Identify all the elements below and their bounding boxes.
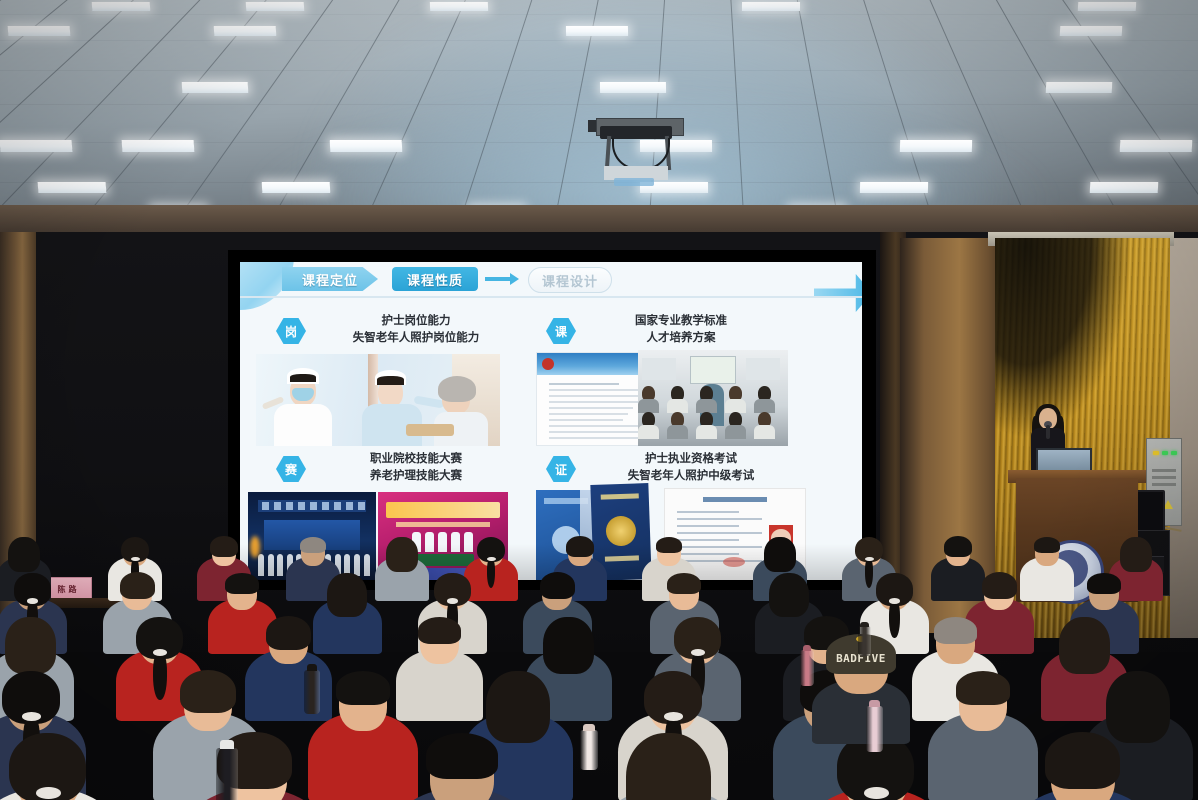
person-hair-long (543, 617, 594, 674)
panel-led-icon (1162, 451, 1168, 455)
ceiling-seam (0, 70, 1198, 71)
ceiling-light-panel (38, 182, 107, 193)
slide-flow-arrow-head-icon (510, 273, 519, 285)
nurse1-uniform (274, 404, 332, 446)
national-emblem-icon (542, 358, 554, 370)
slide-text-gang: 护士岗位能力 失智老年人照护岗位能力 (316, 312, 516, 345)
person-hair-long (1120, 537, 1152, 572)
projector-lens (614, 178, 654, 186)
gov-site-text-line (549, 395, 643, 397)
stage-banner-char (346, 502, 353, 510)
person-hair-thin (336, 671, 391, 705)
ceiling-light-panel (1090, 182, 1159, 193)
slide-tab-next[interactable]: 课程设计 (528, 267, 612, 293)
hair-tie (487, 557, 496, 561)
person-hair-short (566, 536, 594, 557)
person-hair-thin (426, 733, 498, 778)
person-hair-short (944, 536, 972, 557)
hair-tie (36, 787, 60, 799)
classroom-attendee-body (725, 399, 746, 413)
bottle-cap (869, 700, 880, 707)
classroom-attendee-body (754, 425, 775, 439)
ceiling-light-panel (8, 26, 71, 36)
hair-tie (27, 598, 39, 603)
hair-tie (131, 557, 140, 561)
person-hair-short (540, 572, 575, 599)
person-hair-short (210, 536, 238, 557)
cup (580, 730, 598, 770)
gov-site-text-line (549, 383, 619, 385)
person-hair-short (180, 670, 237, 713)
slide-text-zheng-line2: 失智老年人照护中级考试 (586, 467, 796, 484)
slide-text-ke-line2: 人才培养方案 (586, 329, 776, 346)
ceiling-light-panel (430, 2, 488, 11)
slide-text-sai-line1: 职业院校技能大赛 (370, 451, 462, 465)
hair-tie (864, 787, 888, 799)
ceiling-light-panel (742, 2, 800, 11)
ceiling-light-panel (566, 26, 628, 36)
audience-member (0, 732, 121, 800)
ceiling-light-panel (860, 182, 928, 193)
ceiling-light-panel (122, 140, 195, 152)
cert-doc-text-line (677, 511, 739, 513)
classroom-attendee-body (638, 399, 659, 413)
audience-member (596, 732, 742, 800)
person-hair-thin (656, 537, 683, 554)
person-hair-thin (418, 617, 461, 644)
person-hair-long (327, 573, 367, 618)
stage-banner-char (322, 502, 329, 510)
classroom-attendee-body (667, 425, 688, 439)
hair-tie (889, 598, 901, 603)
ceiling-light-panel (214, 26, 277, 36)
person-hair-long (5, 617, 56, 674)
ceiling-light-panel (0, 140, 73, 152)
gov-site-text-line (549, 401, 638, 403)
slide-tab-previous[interactable]: 课程定位 (282, 267, 378, 291)
panel-switch[interactable] (1152, 483, 1176, 486)
slide-tab-active[interactable]: 课程性质 (392, 267, 478, 291)
gov-site-text-line (549, 389, 648, 391)
slide-text-ke: 国家专业教学标准 人才培养方案 (586, 312, 776, 345)
person-hair-long (769, 573, 809, 618)
panel-switch[interactable] (1152, 476, 1176, 479)
panel-led-icon (1171, 451, 1177, 455)
slide-flow-arrow-line (485, 277, 511, 281)
person-hair-long (1059, 617, 1110, 674)
slide-text-gang-line2: 失智老年人照护岗位能力 (316, 329, 516, 346)
gov-site-text-line (549, 407, 633, 409)
classroom-attendee-body (696, 399, 717, 413)
classroom-attendee-body (754, 399, 775, 413)
person-hair-thin (300, 537, 327, 554)
ceiling-light-panel (600, 82, 666, 93)
pink-bottle (800, 650, 814, 686)
thermos (304, 670, 320, 714)
slide-badge-gang: 岗 (276, 318, 306, 344)
ceiling-seam (0, 182, 1198, 183)
ceiling-light-panel (1046, 82, 1112, 93)
slide-photo-nurses (256, 354, 500, 446)
ceiling-light-panel (262, 182, 331, 193)
ceiling-light-panel (330, 140, 403, 152)
ceiling-light-panel (900, 140, 972, 152)
ceiling (0, 0, 1198, 232)
stage-banner-char (262, 502, 269, 510)
hair-tie (664, 712, 683, 721)
classroom-panel-l (642, 358, 676, 380)
audience-member (182, 732, 328, 800)
stage-banner-char (286, 502, 293, 510)
slide-badge-zheng: 证 (546, 456, 576, 482)
stage-banner-char (334, 502, 341, 510)
pink-thermos (866, 706, 883, 752)
microphone-handle (1046, 425, 1050, 439)
ceiling-light-panel (1060, 26, 1122, 36)
bed-rail (406, 424, 454, 436)
person-hair-thin (1034, 537, 1061, 554)
stage-banner-char (298, 502, 305, 510)
hair-tie (865, 557, 874, 561)
bottle-cap (860, 622, 868, 627)
person-hair-thin (1087, 573, 1121, 594)
person-hair-thin (934, 617, 977, 644)
slide-text-sai: 职业院校技能大赛 养老护理技能大赛 (316, 450, 516, 483)
audience-member (389, 732, 535, 800)
hair-tie (447, 598, 459, 603)
stage-title-band (386, 502, 500, 518)
bottle-cap (583, 724, 595, 730)
ceiling-seam (0, 104, 1198, 105)
person-hair-short (120, 572, 155, 599)
bottle-cap (220, 740, 234, 749)
person-hair-long (8, 537, 40, 572)
person-hair-short (1045, 732, 1120, 789)
ceiling-light-panel (1120, 140, 1193, 152)
person-hair-thin (225, 573, 259, 594)
stage-banner-char (310, 502, 317, 510)
audience-area: BADFIVE (0, 520, 1198, 800)
sports-bottle (216, 748, 238, 800)
nurse2-hair (377, 376, 404, 385)
classroom-attendee-body (696, 425, 717, 439)
ceiling-light-panel (1078, 2, 1136, 11)
slide-badge-sai: 赛 (276, 456, 306, 482)
slide-decor-arrow-right (814, 274, 862, 312)
stage-banner-char (274, 502, 281, 510)
person-hair-long (626, 733, 711, 800)
cert-header-line (601, 493, 639, 499)
audience-member (1010, 732, 1156, 800)
person-hair-thin (956, 671, 1011, 705)
slide-text-zheng: 护士执业资格考试 失智老年人照护中级考试 (586, 450, 796, 483)
bottle-cap (803, 645, 812, 651)
conference-hall-scene: 课程定位 课程性质 课程设计 岗 护士岗位能力 失智老年人照护岗位能力 课 国家… (0, 0, 1198, 800)
patient-hair (438, 376, 476, 402)
ceiling-seam (0, 40, 1198, 41)
slide-badge-ke: 课 (546, 318, 576, 344)
classroom-attendee-body (725, 425, 746, 439)
slide-text-sai-line2: 养老护理技能大赛 (316, 467, 516, 484)
person-hair-long (386, 537, 418, 572)
person-hair-long (764, 537, 796, 572)
ceiling-light-panel (246, 2, 305, 11)
ceiling-light-panel (92, 2, 151, 11)
classroom-panel-r (746, 358, 780, 380)
hair-tie (22, 712, 41, 721)
classroom-whiteboard (690, 356, 736, 384)
gov-site-text-line (549, 431, 647, 433)
gov-site-text-line (549, 425, 652, 427)
person-hair-short (266, 616, 311, 650)
slide-header-rule (240, 296, 862, 298)
gov-site-text-line (549, 437, 642, 439)
nurse1-hair (290, 374, 316, 382)
panel-led-icon (1153, 451, 1159, 455)
stage-banner-char (358, 502, 365, 510)
panel-switch[interactable] (1152, 469, 1176, 472)
slide-text-zheng-line1: 护士执业资格考试 (645, 451, 737, 465)
dark-bottle (858, 626, 871, 656)
ceiling-seam (0, 14, 1198, 15)
person-hair-thin (667, 573, 701, 594)
slide-photo-classroom (638, 350, 788, 446)
gov-site-text-line (549, 413, 628, 415)
slide-text-gang-line1: 护士岗位能力 (382, 313, 451, 327)
classroom-attendee-body (638, 425, 659, 439)
person-hair-short (982, 572, 1017, 599)
classroom-attendee-body (667, 399, 688, 413)
bottle-cap (307, 664, 317, 671)
slide-text-ke-line1: 国家专业教学标准 (635, 313, 727, 327)
ceiling-light-panel (182, 82, 249, 93)
gov-site-text-line (549, 419, 623, 421)
cert-doc-title (703, 497, 767, 502)
